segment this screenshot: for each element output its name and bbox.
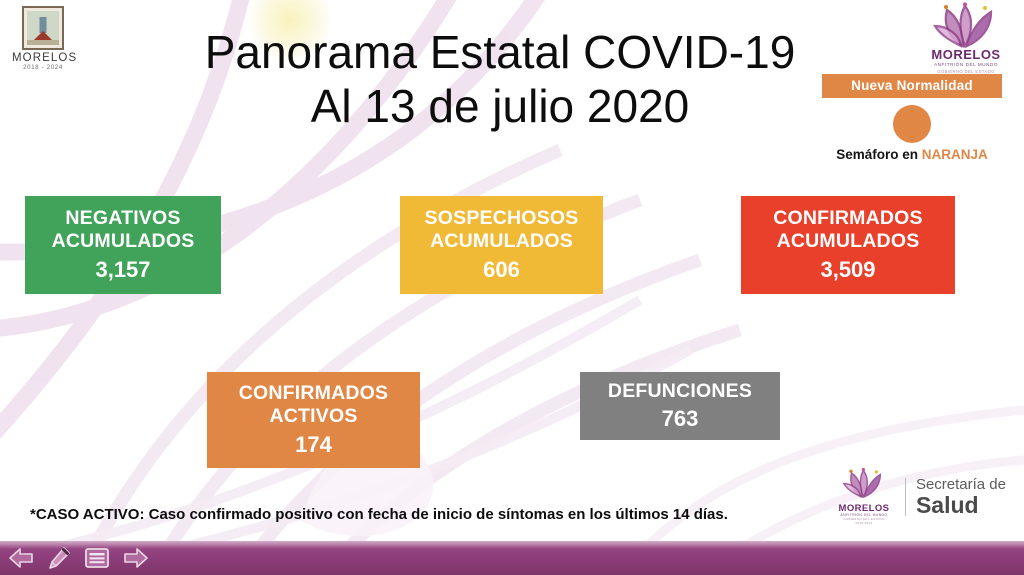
- stat-card-confirmados: CONFIRMADOS ACUMULADOS 3,509: [741, 196, 955, 294]
- morelos-coat-of-arms-logo: MORELOS 2018 - 2024: [12, 6, 74, 71]
- stat-label: CONFIRMADOS ACUMULADOS: [745, 207, 951, 254]
- page-title: Panorama Estatal COVID-19 Al 13 de julio…: [150, 26, 850, 134]
- stat-label: DEFUNCIONES: [584, 380, 776, 403]
- salud-line1: Secretaría de: [916, 477, 1006, 493]
- morelos-mark: MORELOS ANFITRIÓN DEL MUNDO GOBIERNO DEL…: [833, 468, 895, 526]
- brand-name: MORELOS: [920, 48, 1012, 61]
- pen-icon[interactable]: [47, 546, 71, 570]
- stat-value: 606: [404, 256, 599, 284]
- stat-value: 3,509: [745, 256, 951, 284]
- back-arrow-icon[interactable]: [8, 547, 34, 569]
- stat-value: 174: [211, 431, 416, 459]
- semaforo-caption-prefix: Semáforo en: [836, 147, 922, 162]
- forward-arrow-icon[interactable]: [123, 547, 149, 569]
- semaforo-block: Nueva Normalidad Semáforo en NARANJA: [822, 74, 1002, 162]
- salud-wordmark: Secretaría de Salud: [916, 477, 1006, 517]
- slide-canvas: MORELOS 2018 - 2024 MORELOS ANFITRIÓN DE…: [0, 0, 1024, 541]
- salud-line2: Salud: [916, 493, 1006, 517]
- stat-card-negativos: NEGATIVOS ACUMULADOS 3,157: [25, 196, 221, 294]
- brand-name: MORELOS: [833, 504, 895, 514]
- semaforo-status-value: NARANJA: [922, 147, 988, 162]
- morelos-flower-icon: [920, 2, 1012, 48]
- semaforo-status-dot: [893, 105, 931, 143]
- stat-label: NEGATIVOS ACUMULADOS: [29, 207, 217, 254]
- menu-icon[interactable]: [84, 547, 110, 569]
- secretaria-de-salud-logo: MORELOS ANFITRIÓN DEL MUNDO GOBIERNO DEL…: [833, 470, 1006, 524]
- logo-divider: [905, 478, 906, 516]
- stat-label: CONFIRMADOS ACTIVOS: [211, 382, 416, 429]
- morelos-flower-icon: [839, 468, 889, 498]
- brand-subline: GOBIERNO DEL ESTADO 2018-2024: [833, 518, 895, 526]
- brand-tagline: ANFITRIÓN DEL MUNDO: [920, 62, 1012, 67]
- morelos-brand-logo: MORELOS ANFITRIÓN DEL MUNDO GOBIERNO DEL…: [920, 2, 1012, 80]
- coat-of-arms-shield-icon: [22, 6, 64, 50]
- stat-value: 3,157: [29, 256, 217, 284]
- stat-value: 763: [584, 405, 776, 433]
- nueva-normalidad-badge: Nueva Normalidad: [822, 74, 1002, 98]
- morelos-logo-period: 2018 - 2024: [12, 65, 74, 71]
- semaforo-caption: Semáforo en NARANJA: [822, 147, 1002, 162]
- stat-card-confirmados-activos: CONFIRMADOS ACTIVOS 174: [207, 372, 420, 468]
- morelos-logo-name: MORELOS: [12, 52, 74, 64]
- bottom-toolbar: [0, 541, 1024, 575]
- stat-card-defunciones: DEFUNCIONES 763: [580, 372, 780, 440]
- stat-label: SOSPECHOSOS ACUMULADOS: [404, 207, 599, 254]
- stat-card-sospechosos: SOSPECHOSOS ACUMULADOS 606: [400, 196, 603, 294]
- footnote-caso-activo: *CASO ACTIVO: Caso confirmado positivo c…: [30, 506, 820, 524]
